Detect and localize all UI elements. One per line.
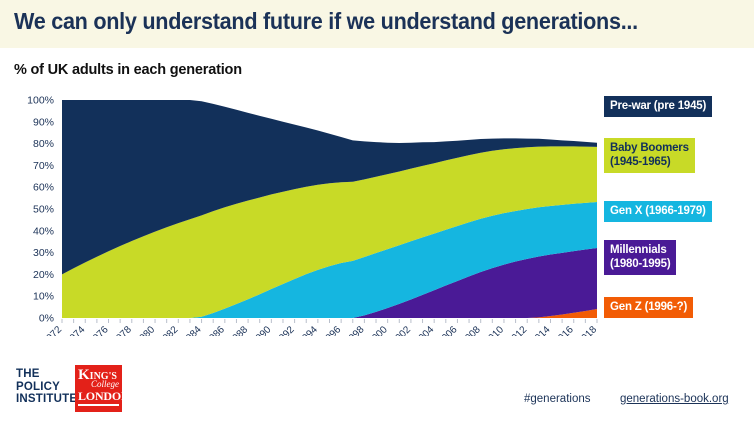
x-tick-label: 2000 — [366, 324, 390, 336]
legend-item-gen-z: Gen Z (1996-?) — [604, 297, 693, 318]
y-tick-label: 60% — [33, 182, 54, 194]
legend-label-baby-boomers-line2: (1945-1965) — [610, 156, 670, 168]
x-tick-label: 2002 — [390, 324, 414, 336]
x-axis-ticks: 1972197419761978198019821984198619881990… — [41, 319, 600, 336]
y-tick-label: 30% — [33, 247, 54, 259]
x-tick-label: 1980 — [134, 324, 158, 336]
hashtag-text: #generations — [524, 393, 591, 405]
legend-item-baby-boomers: Baby Boomers (1945-1965) — [604, 138, 695, 173]
legend-label-baby-boomers-line1: Baby Boomers — [610, 142, 689, 154]
y-tick-label: 40% — [33, 225, 54, 237]
legend-label-prewar: Pre-war (pre 1945) — [610, 100, 706, 112]
legend-label-millennials-line2: (1980-1995) — [610, 258, 670, 270]
x-tick-label: 1978 — [110, 324, 134, 336]
policy-institute-line2: POLICY — [16, 381, 77, 394]
x-tick-label: 1988 — [227, 324, 251, 336]
policy-institute-logo: THE POLICY INSTITUTE — [16, 368, 77, 406]
y-tick-label: 0% — [39, 313, 54, 325]
x-tick-label: 1976 — [87, 324, 111, 336]
policy-institute-line1: THE — [16, 368, 77, 381]
chart-subtitle: % of UK adults in each generation — [14, 62, 242, 78]
legend-item-millennials: Millennials (1980-1995) — [604, 240, 676, 275]
chart-series-group — [62, 100, 597, 318]
x-tick-label: 1982 — [157, 324, 181, 336]
x-tick-label: 1998 — [343, 324, 367, 336]
x-tick-label: 2018 — [576, 324, 600, 336]
x-tick-label: 1974 — [64, 324, 88, 336]
x-tick-label: 2006 — [436, 324, 460, 336]
y-tick-label: 10% — [33, 291, 54, 303]
legend-label-gen-x: Gen X (1966-1979) — [610, 205, 706, 217]
x-tick-label: 1984 — [180, 324, 204, 336]
x-tick-label: 1972 — [41, 324, 65, 336]
x-tick-label: 1994 — [296, 324, 320, 336]
legend-label-gen-z: Gen Z (1996-?) — [610, 301, 687, 313]
x-tick-label: 2012 — [506, 324, 530, 336]
legend-label-millennials-line1: Millennials — [610, 244, 667, 256]
x-tick-label: 2008 — [459, 324, 483, 336]
policy-institute-line3: INSTITUTE — [16, 393, 77, 406]
kcl-london-text: LONDON — [78, 389, 129, 404]
kcl-k-glyph: K — [78, 367, 90, 383]
kcl-underline-rule — [78, 404, 119, 406]
x-tick-label: 1986 — [203, 324, 227, 336]
x-tick-label: 1990 — [250, 324, 274, 336]
y-tick-label: 90% — [33, 116, 54, 128]
kings-college-london-logo: KING'S College LONDON — [75, 365, 122, 412]
x-tick-label: 1992 — [273, 324, 297, 336]
page-title: We can only understand future if we unde… — [14, 8, 638, 35]
legend-item-prewar: Pre-war (pre 1945) — [604, 96, 712, 117]
y-tick-label: 80% — [33, 138, 54, 150]
kcl-college-text: College — [91, 379, 119, 389]
x-tick-label: 1996 — [320, 324, 344, 336]
x-tick-label: 2010 — [483, 324, 507, 336]
y-tick-label: 20% — [33, 269, 54, 281]
x-tick-label: 2014 — [529, 324, 553, 336]
footer: THE POLICY INSTITUTE KING'S College LOND… — [0, 360, 754, 424]
y-tick-label: 50% — [33, 204, 54, 216]
x-tick-label: 2016 — [552, 324, 576, 336]
x-tick-label: 2004 — [413, 324, 437, 336]
website-link[interactable]: generations-book.org — [620, 393, 729, 405]
y-tick-label: 100% — [27, 95, 54, 107]
legend-item-gen-x: Gen X (1966-1979) — [604, 201, 712, 222]
y-axis-ticks: 0%10%20%30%40%50%60%70%80%90%100% — [27, 95, 54, 325]
y-tick-label: 70% — [33, 160, 54, 172]
